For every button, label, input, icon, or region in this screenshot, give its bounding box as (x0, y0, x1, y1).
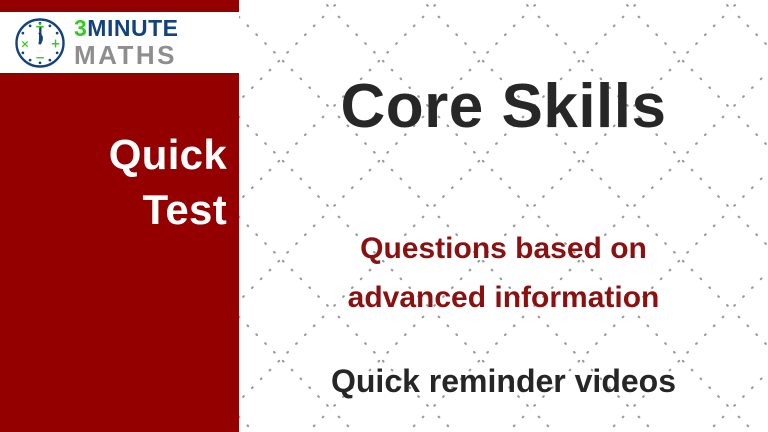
subtitle-block: Questions based on advanced information (253, 225, 754, 322)
brand-number-3: 3 (74, 15, 87, 41)
brand-word-maths: MATHS (74, 42, 178, 69)
footer-caption: Quick reminder videos (247, 364, 760, 399)
quick-test-line-2: Test (109, 182, 227, 237)
svg-text:−: − (35, 50, 45, 64)
svg-text:+: + (50, 36, 60, 50)
logo-band: ÷ + − × 3MINUTE MATHS (0, 12, 239, 73)
clock-with-math-operators-icon: ÷ + − × (12, 15, 68, 71)
svg-text:×: × (20, 37, 29, 50)
quick-test-line-1: Quick (109, 127, 227, 182)
subtitle-line-2: advanced information (253, 274, 754, 323)
brand-wordmark: 3MINUTE MATHS (74, 17, 178, 68)
brand-logo[interactable]: ÷ + − × 3MINUTE MATHS (12, 14, 178, 71)
top-red-strip (0, 0, 239, 12)
left-red-panel: Quick Test (0, 73, 239, 432)
slide-canvas: Quick Test ÷ + − (0, 0, 768, 432)
quick-test-heading: Quick Test (109, 127, 227, 238)
main-content-area: Core Skills Questions based on advanced … (239, 0, 768, 432)
page-title: Core Skills (239, 76, 768, 138)
brand-wordmark-line-1: 3MINUTE (74, 17, 178, 41)
brand-word-minute: MINUTE (87, 15, 178, 41)
subtitle-line-1: Questions based on (253, 225, 754, 274)
